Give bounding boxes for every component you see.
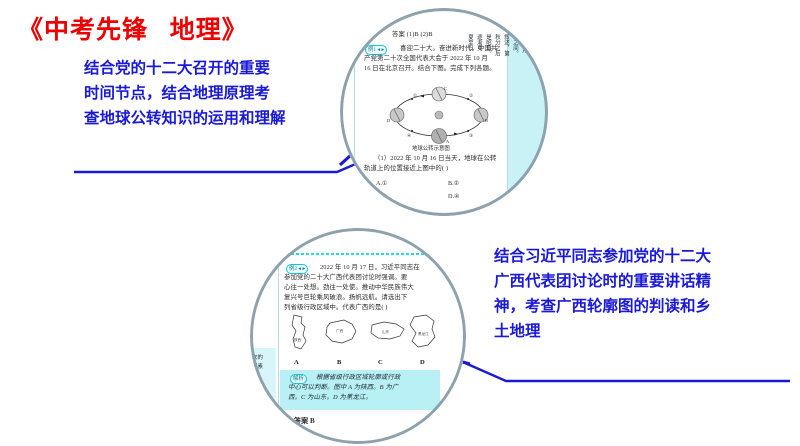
svg-text:D: D [387,118,390,123]
svg-text:C: C [444,86,447,91]
svg-text:②: ② [469,93,473,98]
example-1-body: 喜迎二十大。奋进新时代。中国共 产党第二十次全国代表大会于 2022 年 10 … [364,44,510,74]
province-label-a: A [294,359,299,366]
cyan-dotted-divider [286,253,434,255]
svg-text:①: ① [413,93,417,98]
left-margin-text: 叙述。 [252,274,278,284]
province-label-d: D [420,359,425,366]
page-title: 《中考先锋 地理》 [18,10,248,46]
connector-right-underline [440,352,790,381]
example-1-question: （1）2022 年 10 月 16 日当天，地球在公转 轨道上的位置接近上图中的… [364,154,510,174]
book-page-top: 球的 春分。 年 10 月 东之间。 叙述，第 秋分之后 是昭日。 逐渐变 夏至… [340,8,548,216]
example-2-body: 2022 年 10 月 17 日，习近平同志在 参加党的二十大广西代表团讨论时强… [284,263,436,313]
svg-text:陕西: 陕西 [294,337,302,342]
svg-text:广西: 广西 [336,328,344,333]
annotation-right-text: 结合习近平同志参加党的十二大 广西代表团讨论时的重要讲话精 神，考查广西轮廓图的… [494,244,794,344]
column-rule-left [354,8,355,216]
svg-text:③: ③ [469,133,473,138]
book-page-bottom: 次的 因素 叙述。 例2 ◂ ▸ 2022 年 10 月 17 日，习近平同志在… [250,228,466,444]
earth-revolution-diagram: ① ② ③ ④ C B A D [384,84,494,144]
annotation-left-text: 结合党的十二大召开的重要 时间节点，结合地理原理考 查地球公转知识的运用和理解 [84,56,336,131]
previous-answer-line: 答案 (1)B (2)B [392,30,512,40]
analysis-text: 根据省级行政区域轮廓或行政 中心可以判断。图中 A 为陕西。B 为广 西。C 为… [288,373,436,403]
province-label-b: B [337,359,341,366]
svg-text:黑龙江: 黑龙江 [418,331,429,336]
option-b[interactable]: B.② [448,180,459,187]
diagram-caption: 地球公转示意图 [412,144,450,152]
left-side-text: 次的 因素 [252,354,276,372]
option-a[interactable]: A.① [376,180,388,187]
option-c[interactable]: C.③ [376,193,387,200]
province-label-c: C [378,359,383,366]
province-outlines-diagram: 陕西 广西 山东 黑龙江 [286,313,436,359]
svg-text:山东: 山东 [382,329,390,334]
answer-line: 答案 B [294,416,315,426]
column-rule-left-b [278,228,279,444]
svg-text:④: ④ [407,133,411,138]
magnifier-circle-bottom: 次的 因素 叙述。 例2 ◂ ▸ 2022 年 10 月 17 日，习近平同志在… [250,228,466,444]
svg-text:B: B [485,118,488,123]
option-d[interactable]: D.④ [448,193,460,200]
side-column-text: 球的 春分。 年 10 月 东之间。 叙述，第 秋分之后 是昭日。 逐渐变 夏至… [514,34,546,194]
slide-canvas: 《中考先锋 地理》 结合党的十二大召开的重要 时间节点，结合地理原理考 查地球公… [0,0,800,446]
magnifier-circle-top: 球的 春分。 年 10 月 东之间。 叙述，第 秋分之后 是昭日。 逐渐变 夏至… [340,8,548,216]
